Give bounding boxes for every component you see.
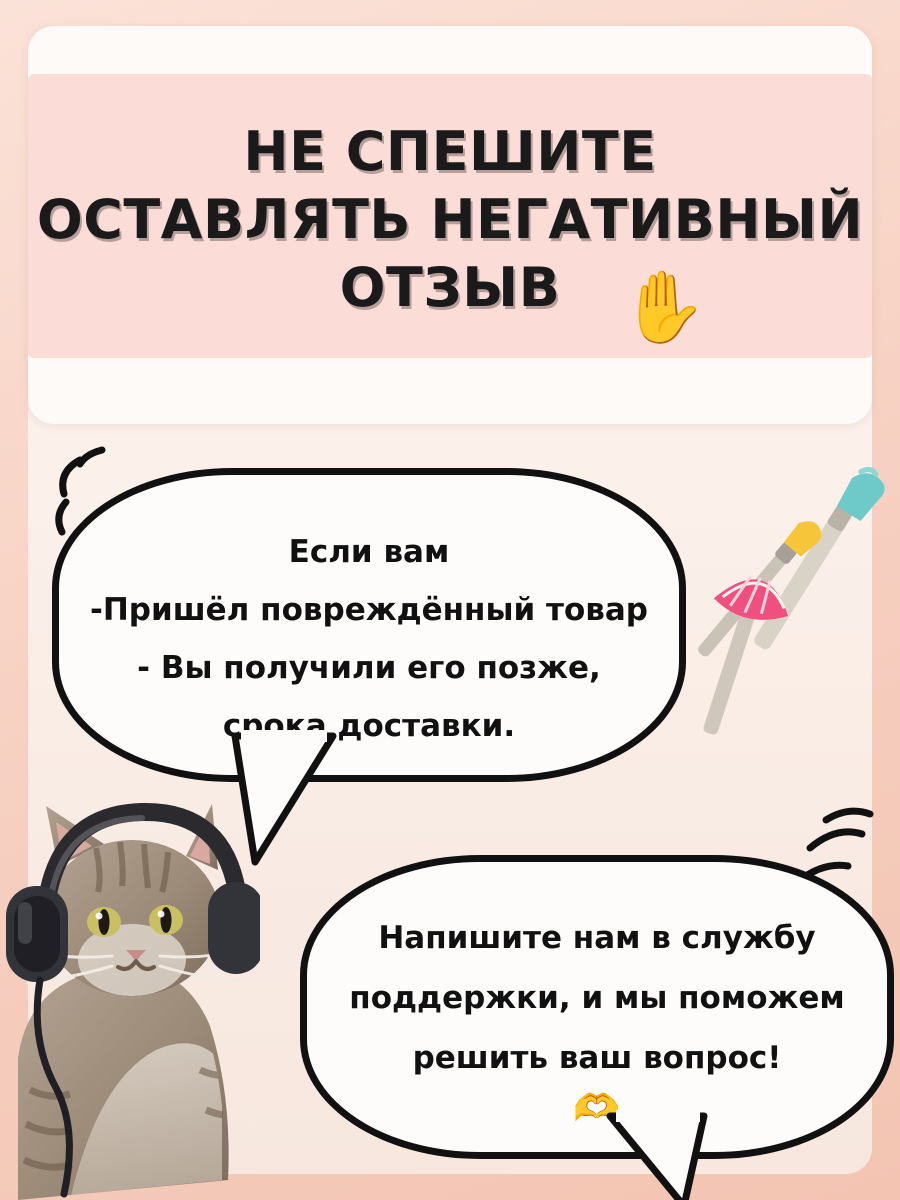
- page-title: НЕ СПЕШИТЕ ОСТАВЛЯТЬ НЕГАТИВНЫЙ ОТЗЫВ: [28, 118, 872, 322]
- bubble-2-tail-icon: [600, 1110, 730, 1200]
- bubble-2-line-1: Напишите нам в службу: [307, 908, 887, 968]
- bubble-1-line-3: - Вы получили его позже,: [59, 639, 679, 697]
- header-line-3: ОТЗЫВ: [340, 254, 561, 322]
- speech-bubble-problem: Если вам -Пришёл повреждённый товар - Вы…: [52, 468, 686, 782]
- paint-brushes-icon: [690, 460, 900, 750]
- bubble-2-line-2: поддержки, и мы поможем: [307, 968, 887, 1028]
- raised-hand-icon: ✋: [620, 272, 707, 342]
- bubble-1-line-4: срока доставки.: [59, 697, 679, 755]
- header-line-2: ОСТАВЛЯТЬ НЕГАТИВНЫЙ: [28, 186, 872, 254]
- speech-bubble-solution: Напишите нам в службу поддержки, и мы по…: [300, 855, 894, 1159]
- bubble-1-line-1: Если вам: [59, 523, 679, 581]
- heart-hands-icon: 🫶: [307, 1088, 887, 1128]
- bubble-1-tail-icon: [215, 730, 365, 870]
- bubble-1-line-2: -Пришёл повреждённый товар: [59, 581, 679, 639]
- bubble-2-line-3: решить ваш вопрос!: [307, 1028, 887, 1088]
- bubble-1-text: Если вам -Пришёл повреждённый товар - Вы…: [59, 523, 679, 755]
- poster-root: НЕ СПЕШИТЕ ОСТАВЛЯТЬ НЕГАТИВНЫЙ ОТЗЫВ ✋: [0, 0, 900, 1200]
- bubble-2-text: Напишите нам в службу поддержки, и мы по…: [307, 908, 887, 1128]
- header-line-1: НЕ СПЕШИТЕ: [28, 118, 872, 186]
